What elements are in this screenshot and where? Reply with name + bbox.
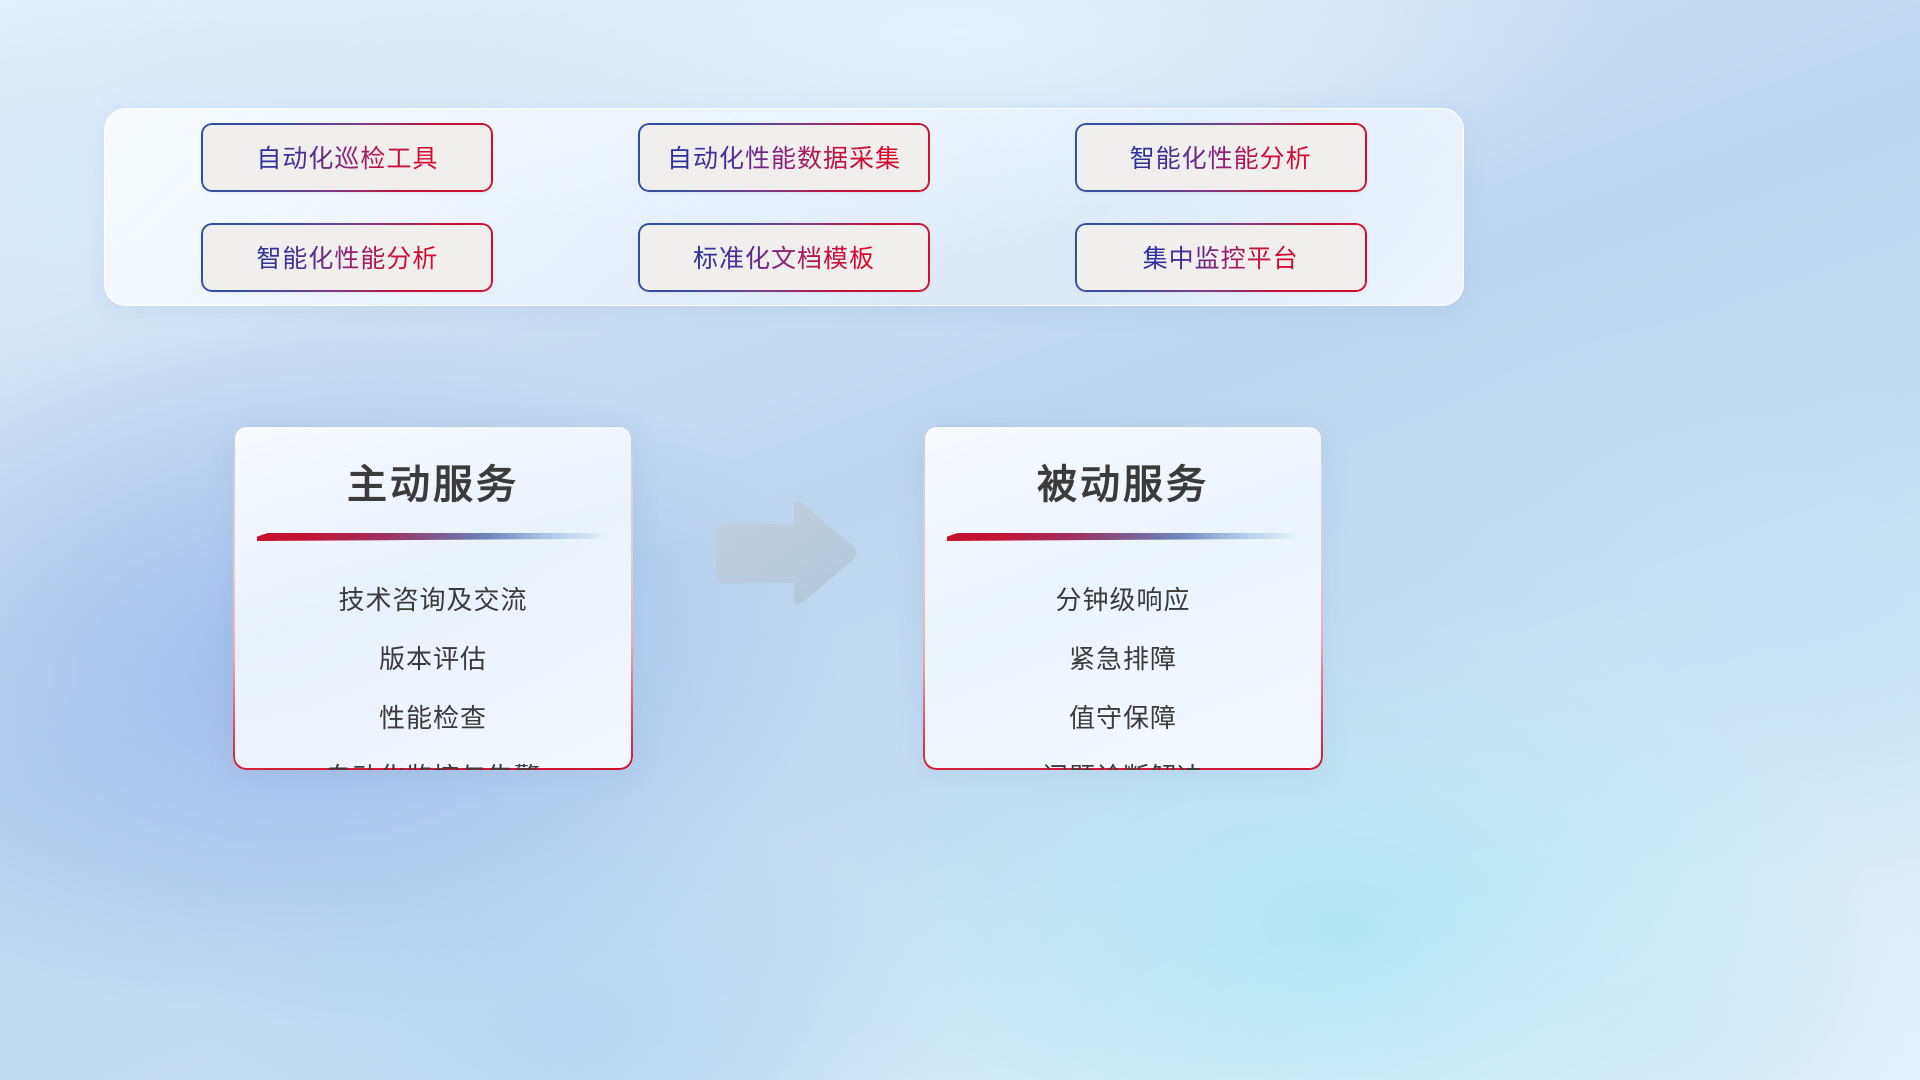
list-item: 分钟级响应 [923, 571, 1323, 630]
list-item: 紧急排障 [923, 630, 1323, 689]
card-divider [947, 533, 1299, 541]
capability-chip-label: 自动化巡检工具 [256, 139, 438, 175]
capability-chip-label: 集中监控平台 [1143, 239, 1299, 275]
list-item: 性能检查 [233, 689, 633, 748]
proactive-service-card[interactable]: 主动服务 技术咨询及交流 版本评估 性能检查 自动化监控与告警 健康巡检 [233, 425, 633, 770]
capability-chip-5[interactable]: 标准化文档模板 [638, 223, 930, 292]
capability-chip-label: 自动化性能数据采集 [667, 139, 901, 175]
card-title: 被动服务 [923, 452, 1323, 510]
list-item: 自动化监控与告警 [233, 748, 633, 770]
reactive-service-card[interactable]: 被动服务 分钟级响应 紧急排障 值守保障 问题诊断解决 SLA式服务 [923, 425, 1323, 770]
capability-chip-2[interactable]: 自动化性能数据采集 [638, 123, 930, 192]
proactive-service-list: 技术咨询及交流 版本评估 性能检查 自动化监控与告警 健康巡检 [233, 571, 633, 770]
capability-chip-grid: 自动化巡检工具 自动化性能数据采集 智能化性能分析 智能化性能分析 标准化文档模… [105, 109, 1463, 305]
list-item: 版本评估 [233, 630, 633, 689]
card-divider [257, 533, 609, 541]
capability-chip-label: 标准化文档模板 [693, 239, 875, 275]
list-item: 值守保障 [923, 689, 1323, 748]
capability-panel: 自动化巡检工具 自动化性能数据采集 智能化性能分析 智能化性能分析 标准化文档模… [104, 108, 1464, 306]
list-item: 问题诊断解决 [923, 748, 1323, 770]
capability-chip-6[interactable]: 集中监控平台 [1075, 223, 1367, 292]
capability-chip-4[interactable]: 智能化性能分析 [201, 223, 493, 292]
capability-chip-label: 智能化性能分析 [256, 239, 438, 275]
arrow-right-icon [710, 498, 860, 610]
capability-chip-3[interactable]: 智能化性能分析 [1075, 123, 1367, 192]
list-item: 技术咨询及交流 [233, 571, 633, 630]
capability-chip-1[interactable]: 自动化巡检工具 [201, 123, 493, 192]
card-title: 主动服务 [233, 452, 633, 510]
capability-chip-label: 智能化性能分析 [1130, 139, 1312, 175]
reactive-service-list: 分钟级响应 紧急排障 值守保障 问题诊断解决 SLA式服务 [923, 571, 1323, 770]
